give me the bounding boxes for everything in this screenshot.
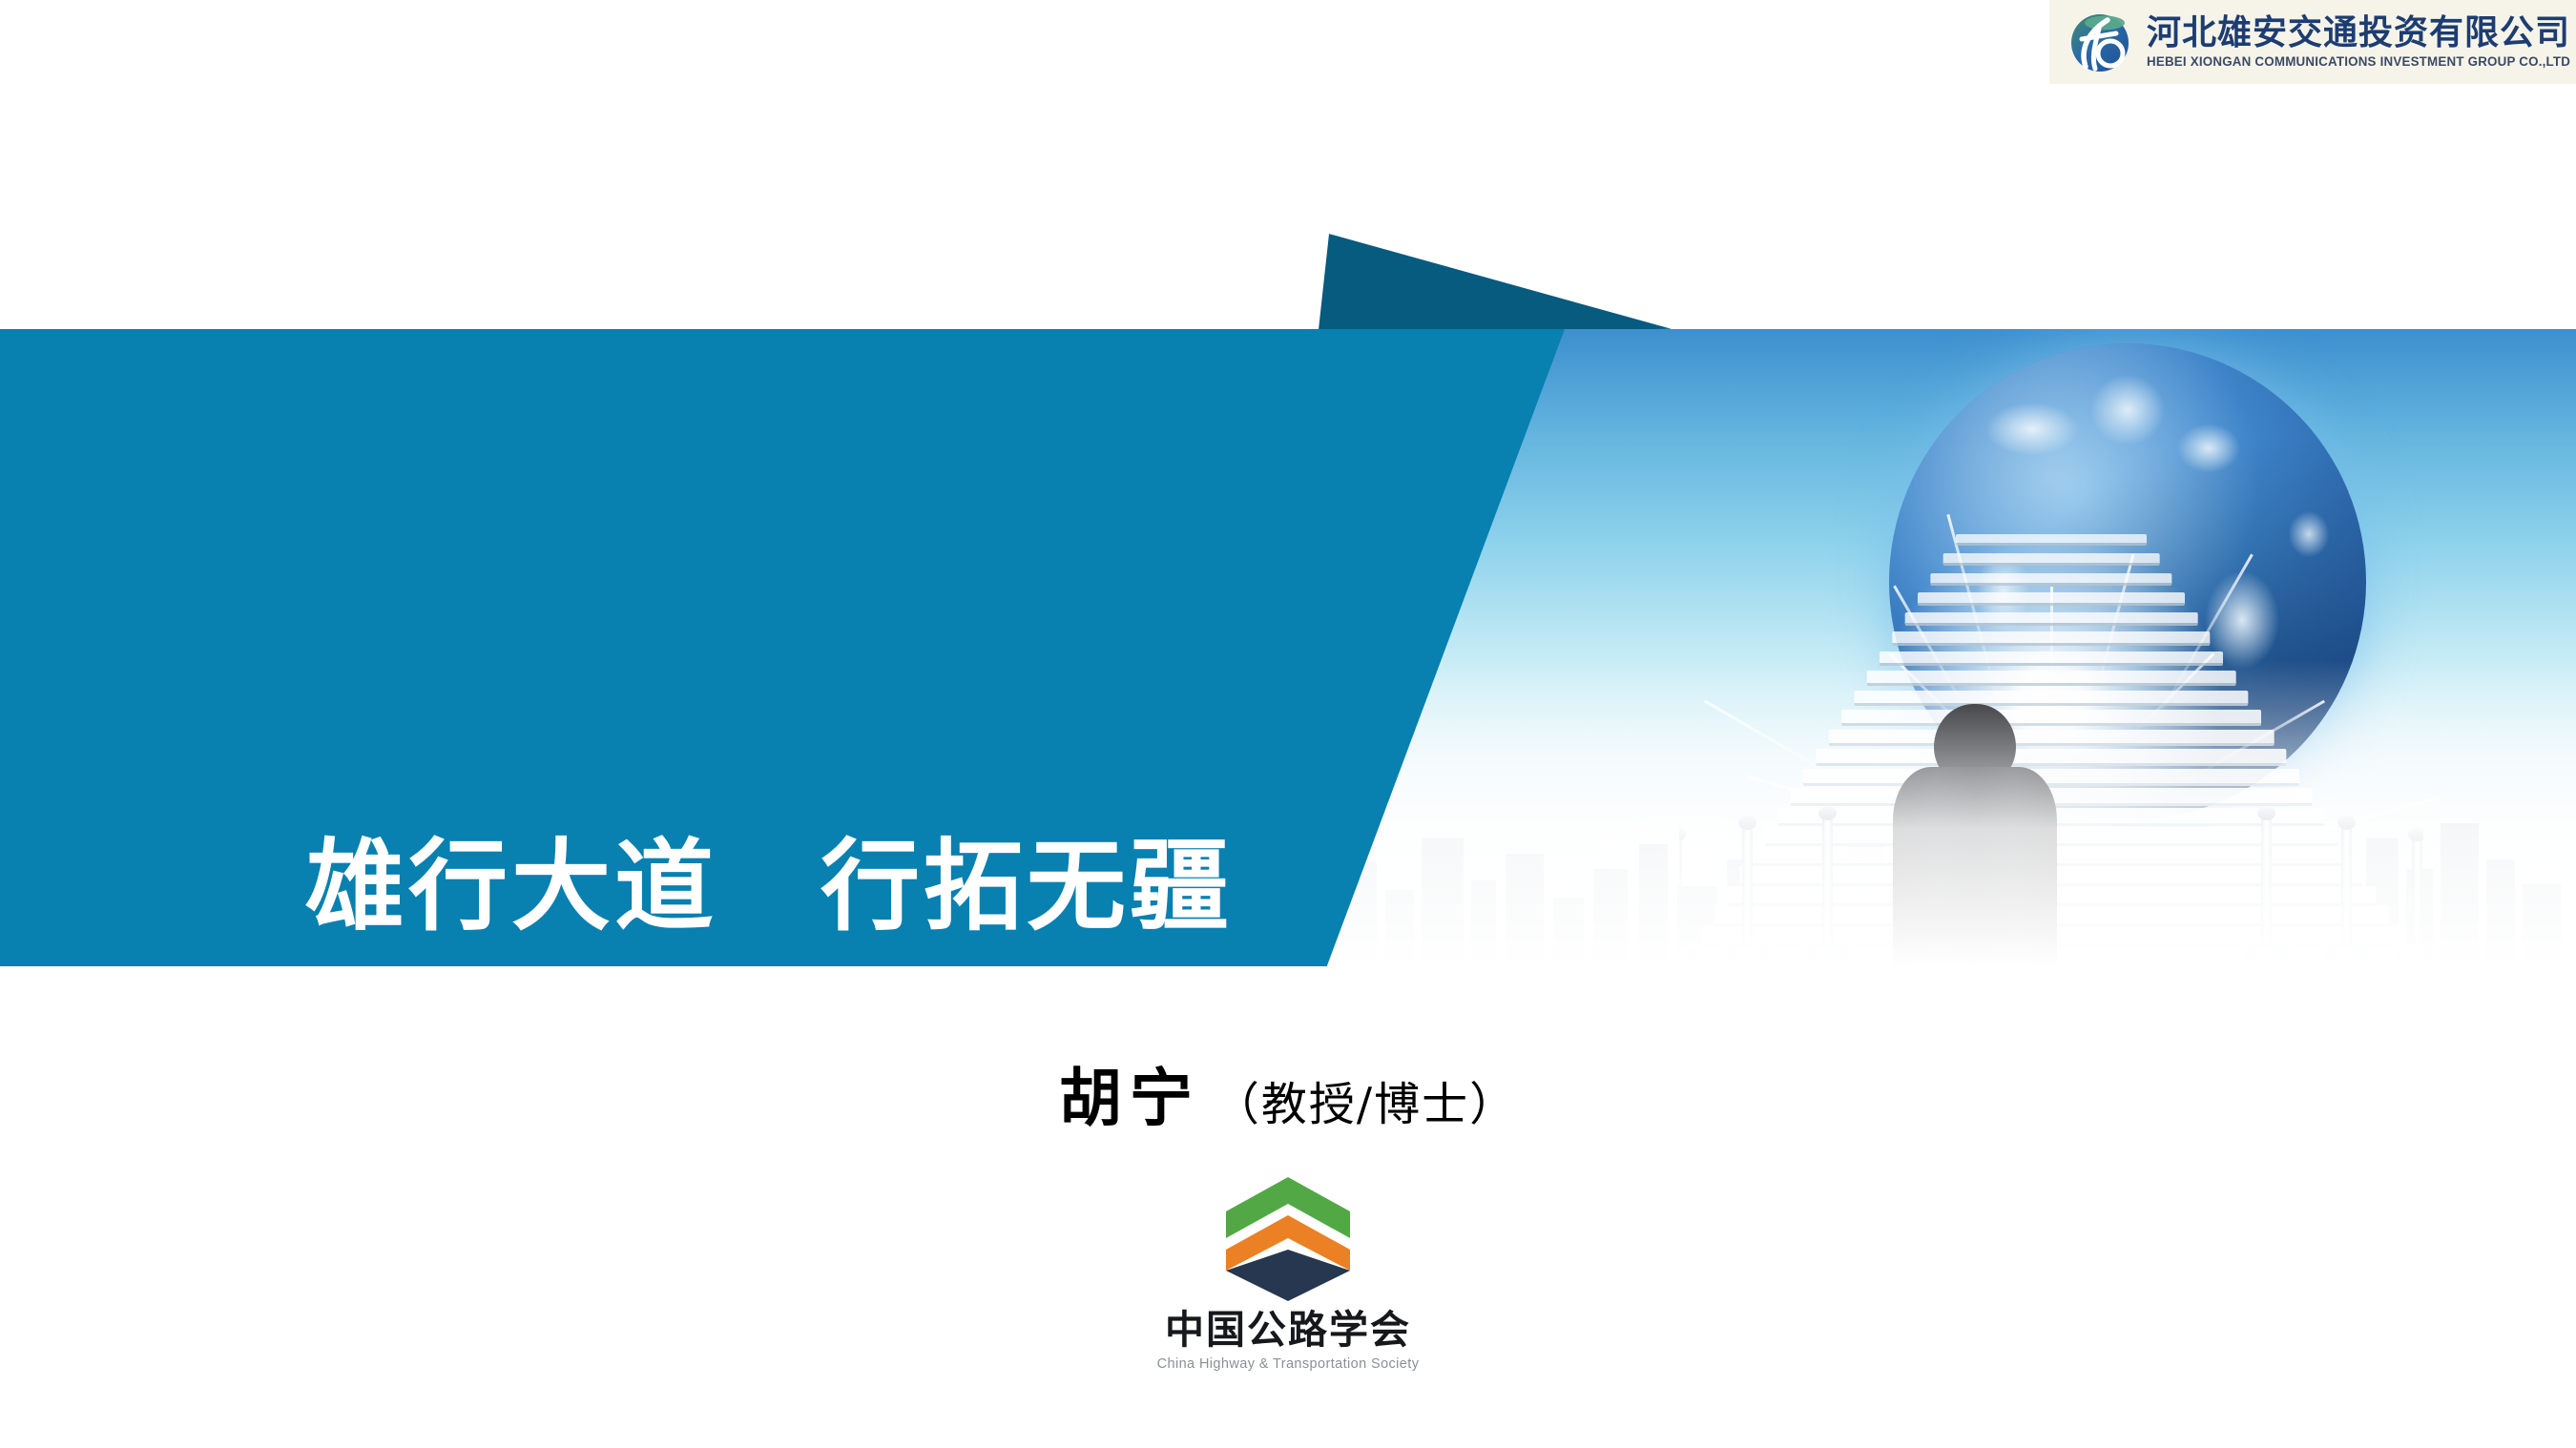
stair-step [1930,573,2171,586]
corporate-logo-english-name: HEBEI XIONGAN COMMUNICATIONS INVESTMENT … [2147,55,2570,69]
corporate-logo: 河北雄安交通投资有限公司 HEBEI XIONGAN COMMUNICATION… [2049,0,2576,84]
society-logo: 中国公路学会 China Highway & Transportation So… [1145,1171,1431,1372]
stair-step [1892,631,2210,646]
presenter-name: 胡宁 [1059,1061,1200,1135]
xiongan-circular-emblem-icon [2063,8,2137,76]
stair-step [1943,553,2160,566]
corporate-logo-text: 河北雄安交通投资有限公司 HEBEI XIONGAN COMMUNICATION… [2147,15,2575,69]
stair-step [1905,612,2198,626]
china-highway-society-hexagon-icon [1216,1171,1360,1307]
society-logo-english-name: China Highway & Transportation Society [1145,1356,1431,1372]
corporate-logo-chinese-name: 河北雄安交通投资有限公司 [2147,15,2575,50]
accent-triangle [1317,232,1672,331]
presenter-credential: （教授/博士） [1214,1078,1517,1131]
title-slide: 河北雄安交通投资有限公司 HEBEI XIONGAN COMMUNICATION… [0,0,2576,1448]
stair-step [1956,534,2147,546]
society-logo-chinese-name: 中国公路学会 [1145,1311,1431,1350]
slide-title: 雄行大道 行拓无疆 [305,833,1233,941]
presenter-line: 胡宁（教授/博士） [0,1047,2576,1139]
hero-banner: 雄行大道 行拓无疆 ——雄安交投企业文化品牌解读与落地实施 [0,329,2576,966]
stair-step [1918,592,2185,606]
